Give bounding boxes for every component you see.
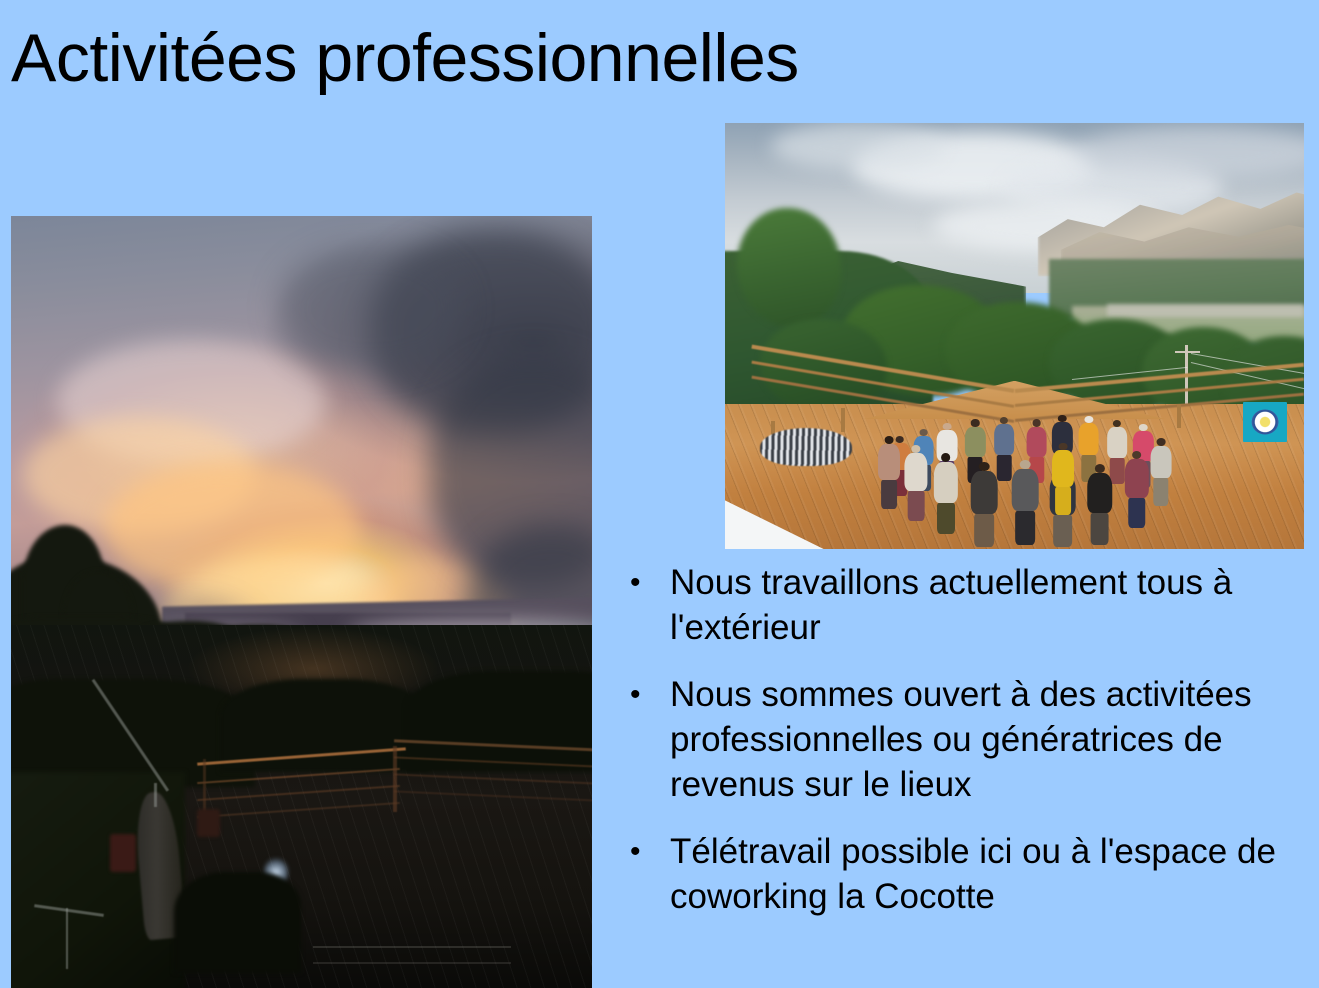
bullet-list: • Nous travaillons actuellement tous à l… <box>626 560 1296 919</box>
foreground-shrub <box>174 872 302 972</box>
bullet-marker-icon: • <box>626 560 670 605</box>
person-in-circle <box>1125 451 1149 528</box>
person-in-circle <box>1151 438 1172 506</box>
sunset-deck-photo <box>11 216 592 988</box>
person-in-circle <box>1087 464 1112 545</box>
person-in-circle <box>1012 460 1039 545</box>
person-in-circle <box>878 436 900 508</box>
umbrella-pole <box>154 783 157 808</box>
flower-pot <box>197 809 220 837</box>
list-item-text: Télétravail possible ici ou à l'espace d… <box>670 829 1296 919</box>
railing-post <box>393 746 397 812</box>
storm-cloud <box>278 247 464 371</box>
sky-cloud <box>771 123 945 170</box>
page-title: Activitées professionnelles <box>11 20 799 96</box>
bench-edge <box>313 962 511 964</box>
support-pole <box>66 908 68 970</box>
list-item: • Nous sommes ouvert à des activitées pr… <box>626 672 1296 807</box>
flower-pot <box>110 834 136 873</box>
person-in-circle <box>904 445 927 522</box>
list-item: • Télétravail possible ici ou à l'espace… <box>626 829 1296 919</box>
utility-crossbar <box>1175 351 1199 353</box>
tree-silhouette <box>406 671 592 771</box>
person-in-circle <box>971 462 998 547</box>
person-in-circle <box>1052 443 1074 515</box>
railing-post <box>1177 404 1181 427</box>
bench-edge <box>313 946 511 948</box>
mandala-flag <box>1243 402 1286 442</box>
list-item-text: Nous sommes ouvert à des activitées prof… <box>670 672 1296 807</box>
slide-canvas: Activitées professionnelles <box>0 0 1319 988</box>
bullet-marker-icon: • <box>626 672 670 717</box>
mandala-emblem <box>1251 410 1278 435</box>
group-circle-deck-photo <box>725 123 1304 549</box>
striped-parasol <box>760 428 853 466</box>
list-item: • Nous travaillons actuellement tous à l… <box>626 560 1296 650</box>
bullet-marker-icon: • <box>626 829 670 874</box>
list-item-text: Nous travaillons actuellement tous à l'e… <box>670 560 1296 650</box>
distant-town <box>1107 304 1304 317</box>
railing-post <box>841 408 845 431</box>
person-in-circle <box>933 453 957 534</box>
